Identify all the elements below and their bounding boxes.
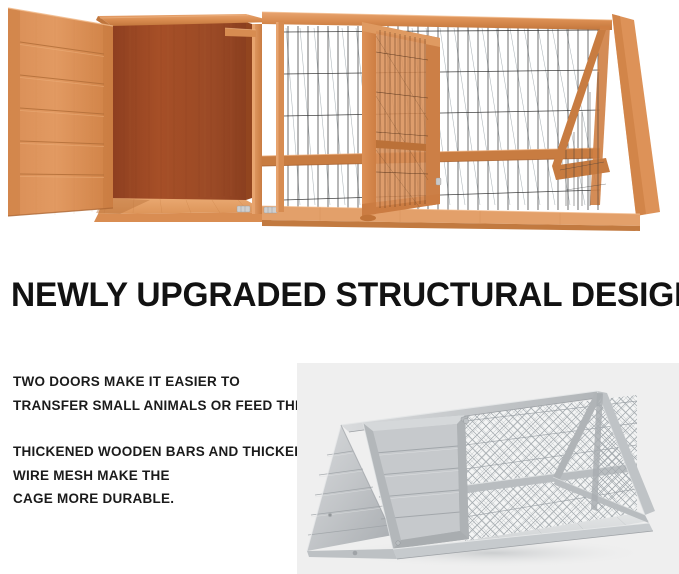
hutch-interior [104, 22, 258, 208]
copy-line: TWO DOORS MAKE IT EASIER TO [13, 370, 303, 394]
paragraph-thickened-bars: THICKENED WOODEN BARS AND THICKER WIRE M… [13, 440, 303, 511]
gray-hutch-illustration [297, 363, 679, 574]
copy-line: TRANSFER SMALL ANIMALS OR FEED THEM. [13, 394, 303, 418]
marketing-page: NEWLY UPGRADED STRUCTURAL DESIGN TWO DOO… [0, 0, 679, 574]
hutch-illustration-svg [0, 0, 679, 238]
feature-copy: TWO DOORS MAKE IT EASIER TO TRANSFER SMA… [13, 370, 303, 511]
run-left-post [276, 22, 284, 212]
mesh-run [283, 26, 600, 210]
copy-line: THICKENED WOODEN BARS AND THICKER [13, 440, 303, 464]
open-mesh-door [360, 22, 441, 221]
a-frame-hutch-svg [297, 363, 679, 574]
hero-product-photo [0, 0, 679, 238]
copy-line: WIRE MESH MAKE THE [13, 464, 303, 488]
copy-line: CAGE MORE DURABLE. [13, 487, 303, 511]
paragraph-two-doors: TWO DOORS MAKE IT EASIER TO TRANSFER SMA… [13, 370, 303, 417]
page-title: NEWLY UPGRADED STRUCTURAL DESIGN [11, 276, 669, 316]
open-solid-door [8, 8, 113, 216]
